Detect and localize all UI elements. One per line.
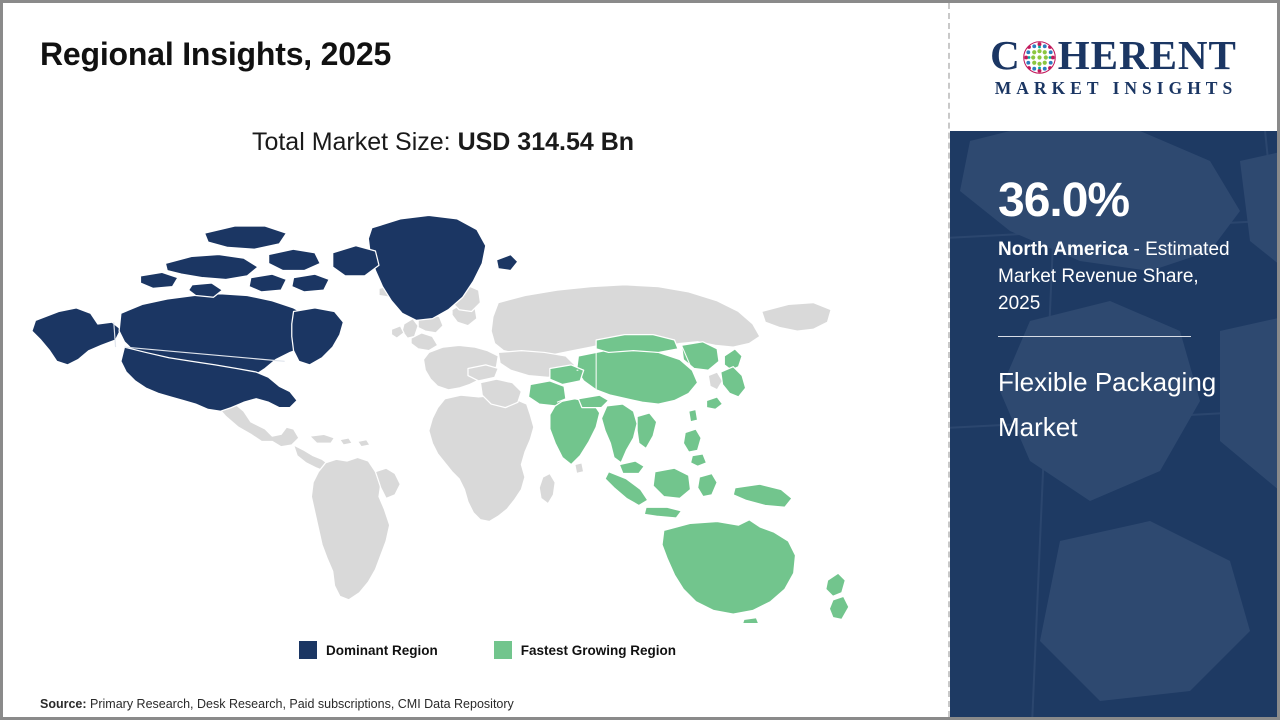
logo-wordmark: C <box>990 35 1237 76</box>
world-map <box>21 178 931 623</box>
right-panel: C <box>950 3 1277 717</box>
logo-subtitle: MARKET INSIGHTS <box>990 78 1237 99</box>
legend-label-fastest: Fastest Growing Region <box>521 643 676 658</box>
stat-divider-rule <box>998 336 1191 337</box>
total-market-size: Total Market Size: USD 314.54 Bn <box>3 128 883 157</box>
stat-description: North America - Estimated Market Revenue… <box>998 237 1243 318</box>
stat-percent: 36.0% <box>998 177 1243 225</box>
company-logo: C <box>950 3 1277 131</box>
source-text: Primary Research, Desk Research, Paid su… <box>87 697 514 711</box>
stat-panel: 36.0% North America - Estimated Market R… <box>950 131 1277 717</box>
stat-region: North America <box>998 239 1128 260</box>
legend-item-fastest: Fastest Growing Region <box>494 641 676 659</box>
globe-dots-icon <box>1022 40 1057 75</box>
source-note: Source: Primary Research, Desk Research,… <box>40 697 514 711</box>
legend-swatch-dominant <box>299 641 317 659</box>
source-label: Source: <box>40 697 87 711</box>
logo-word-before: C <box>990 35 1021 76</box>
legend-swatch-fastest <box>494 641 512 659</box>
stat-market-name: Flexible Packaging Market <box>998 360 1243 450</box>
stat-content: 36.0% North America - Estimated Market R… <box>950 131 1277 450</box>
map-fastest-regions <box>529 335 849 623</box>
world-map-svg <box>21 178 931 623</box>
page-title: Regional Insights, 2025 <box>40 36 391 73</box>
legend-item-dominant: Dominant Region <box>299 641 438 659</box>
left-panel: Regional Insights, 2025 Total Market Siz… <box>3 3 948 717</box>
market-size-label: Total Market Size: <box>252 128 458 156</box>
map-legend: Dominant Region Fastest Growing Region <box>299 641 676 659</box>
market-size-value: USD 314.54 Bn <box>458 128 634 156</box>
legend-label-dominant: Dominant Region <box>326 643 438 658</box>
logo-word-after: HERENT <box>1058 35 1237 76</box>
infographic-page: Regional Insights, 2025 Total Market Siz… <box>3 3 1277 717</box>
